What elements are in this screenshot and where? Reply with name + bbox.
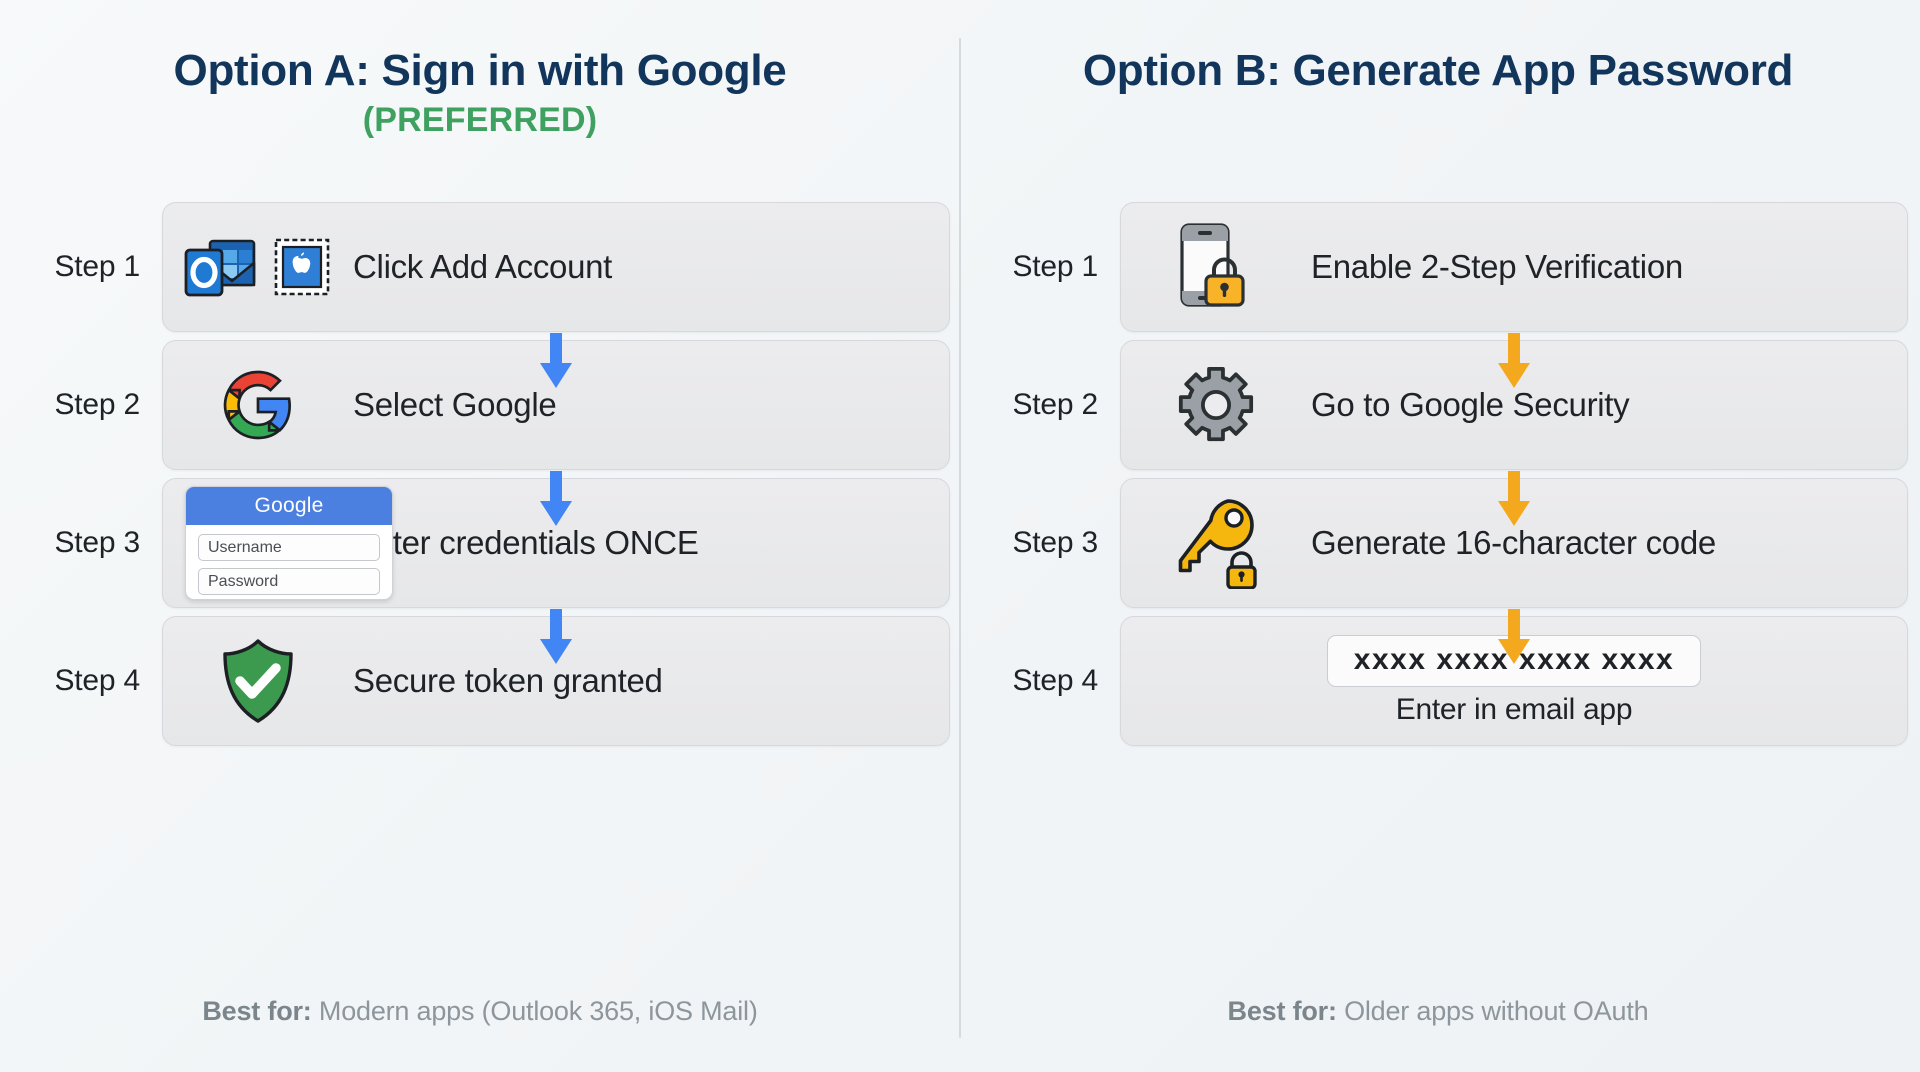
step-label: Step 4 [10,664,162,698]
google-dialog-body: Username Password [186,525,392,600]
column-option-a: Option A: Sign in with Google (PREFERRED… [10,0,950,1072]
step-row: Step 3 Google Username Password [10,474,950,612]
step-box-click-add-account[interactable]: Click Add Account [162,202,950,332]
phone-with-lock-icon [1121,202,1311,332]
step-text: Select Google [353,386,949,424]
option-b-footer: Best for: Older apps without OAuth [968,996,1908,1027]
arrow-down-icon [1491,609,1537,665]
arrow-down-icon [1491,471,1537,527]
outlook-icon [183,236,257,298]
option-b-heading: Option B: Generate App Password [968,46,1908,101]
step-text: Enter credentials ONCE [353,524,949,562]
option-b-footer-label: Best for: [1228,996,1337,1026]
arrow-down-icon [1491,333,1537,389]
option-a-footer-label: Best for: [202,996,311,1026]
column-option-b: Option B: Generate App Password Step 1 [968,0,1908,1072]
app-password-caption: Enter in email app [1396,693,1632,727]
key-lock-icon [1166,497,1266,589]
google-dialog-header: Google [186,487,392,525]
option-a-subtitle: (PREFERRED) [10,101,950,140]
step-label: Step 3 [10,526,162,560]
google-g-icon [163,340,353,470]
key-with-lock-icon [1121,478,1311,608]
password-field[interactable]: Password [198,568,380,595]
option-b-title: Option B: Generate App Password [968,46,1908,95]
step-text: Generate 16-character code [1311,524,1907,562]
step-label: Step 3 [968,526,1120,560]
step-label: Step 2 [10,388,162,422]
option-a-heading: Option A: Sign in with Google (PREFERRED… [10,46,950,140]
option-a-footer: Best for: Modern apps (Outlook 365, iOS … [10,996,950,1027]
arrow-down-icon [533,471,579,527]
infographic-canvas: Option A: Sign in with Google (PREFERRED… [0,0,1920,1072]
step-label: Step 2 [968,388,1120,422]
step-text: Click Add Account [353,248,949,286]
step-box-enable-2sv[interactable]: Enable 2-Step Verification [1120,202,1908,332]
step-row: Step 3 Generate 16-character code [968,474,1908,612]
step-label: Step 1 [10,250,162,284]
gear-settings-icon [1175,364,1257,446]
phone-lock-icon [1168,219,1264,315]
option-a-title: Option A: Sign in with Google [10,46,950,95]
username-field[interactable]: Username [198,534,380,561]
arrow-down-icon [533,333,579,389]
option-a-steps: Step 1 [10,198,950,750]
option-b-footer-text: Older apps without OAuth [1344,996,1648,1026]
option-b-steps: Step 1 [968,198,1908,750]
google-signin-dialog-window: Google Username Password [185,486,393,600]
apple-mail-stamp-icon [271,234,333,300]
google-signin-dialog: Google Username Password [163,478,353,608]
step-row: Step 2 Go to Google Security [968,336,1908,474]
outlook-and-apple-mail-icons [163,202,353,332]
green-shield-check-icon [163,616,353,746]
step-label: Step 4 [968,664,1120,698]
step-row: Step 2 Select Google [10,336,950,474]
step-row: Step 4 xxxx xxxx xxxx xxxx Enter in emai… [968,612,1908,750]
step-text: Enable 2-Step Verification [1311,248,1907,286]
arrow-down-icon [533,609,579,665]
shield-check-icon [219,638,297,724]
google-g-logo [222,369,294,441]
step-text: Go to Google Security [1311,386,1907,424]
step-label: Step 1 [968,250,1120,284]
step-row: Step 4 Secure token granted [10,612,950,750]
gear-icon [1121,340,1311,470]
column-divider [959,38,961,1038]
step-row: Step 1 [968,198,1908,336]
google-dialog-title: Google [255,494,324,518]
step-row: Step 1 [10,198,950,336]
option-a-footer-text: Modern apps (Outlook 365, iOS Mail) [319,996,758,1026]
step-text: Secure token granted [353,662,949,700]
